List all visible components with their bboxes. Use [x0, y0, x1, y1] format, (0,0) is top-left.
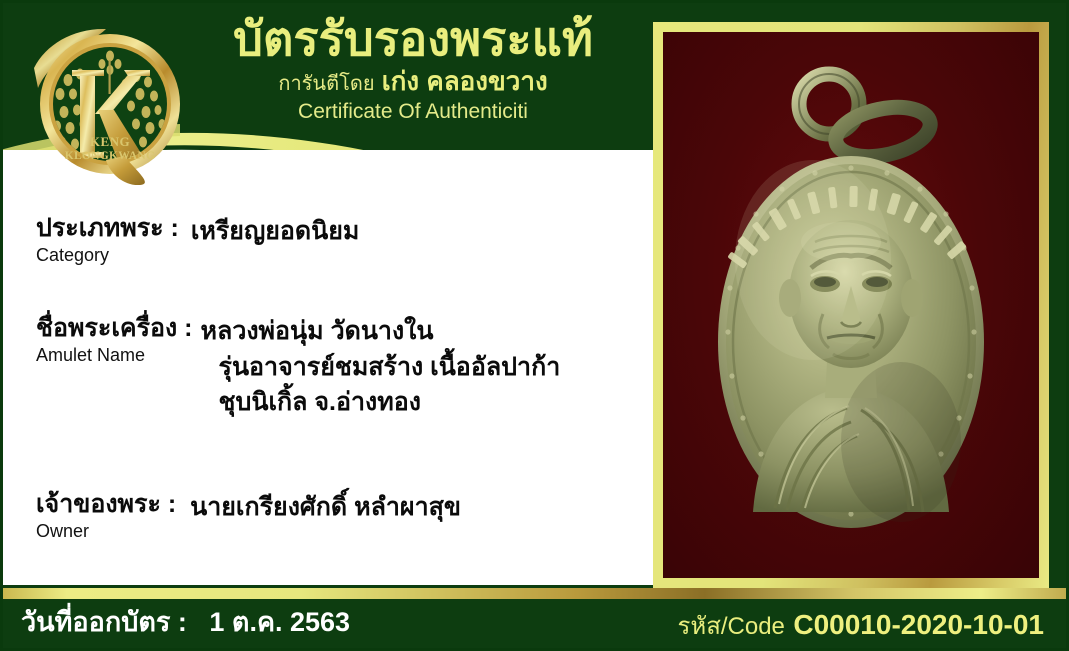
guarantee-prefix: การันตีโดย	[278, 73, 374, 95]
field-label-en: Amulet Name	[36, 345, 193, 366]
field-value-amulet-name: หลวงพ่อนุ่ม วัดนางใน รุ่นอาจารย์ชมสร้าง …	[201, 314, 561, 421]
amulet-hanger-rings	[799, 74, 935, 164]
field-label-category: ประเภทพระ : Category	[36, 214, 179, 265]
header-title-block: บัตรรับรองพระแท้ การันตีโดย เก่ง คลองขวา…	[178, 14, 648, 124]
issue-date-label: วันที่ออกบัตร :	[21, 607, 187, 637]
svg-text:KENG: KENG	[90, 134, 130, 149]
field-label-th: ชื่อพระเครื่อง :	[36, 314, 193, 344]
guarantee-by: เก่ง คลองขวาง	[382, 66, 548, 96]
field-label-en: Category	[36, 245, 179, 266]
keng-klongkwang-seal-icon: KENG KLONGKWANG	[28, 18, 193, 186]
field-value-category: เหรียญยอดนิยม	[191, 214, 360, 250]
field-value-owner: นายเกรียงศักดิ์ หลำผาสุข	[190, 490, 461, 526]
amulet-photo-panel	[653, 22, 1049, 588]
issue-date-value: 1 ต.ค. 2563	[209, 607, 350, 637]
field-row-category: ประเภทพระ : Category เหรียญยอดนิยม	[36, 214, 359, 265]
certificate-footer: วันที่ออกบัตร : 1 ต.ค. 2563 รหัส/Code C0…	[3, 599, 1066, 648]
issue-date: วันที่ออกบัตร : 1 ต.ค. 2563	[21, 605, 350, 640]
brand-logo: KENG KLONGKWANG	[28, 18, 193, 186]
photo-background	[663, 32, 1039, 578]
guarantee-line: การันตีโดย เก่ง คลองขวาง	[178, 66, 648, 97]
field-label-th: ประเภทพระ :	[36, 214, 179, 244]
field-label-en: Owner	[36, 521, 176, 542]
certificate-subtitle-en: Certificate Of Authenticiti	[178, 99, 648, 124]
photo-gold-frame	[653, 22, 1049, 588]
field-row-amulet-name: ชื่อพระเครื่อง : Amulet Name หลวงพ่อนุ่ม…	[36, 314, 560, 421]
certificate-card: บัตรรับรองพระแท้ การันตีโดย เก่ง คลองขวา…	[0, 0, 1069, 651]
svg-text:KLONGKWANG: KLONGKWANG	[65, 150, 156, 162]
footer-gold-strip	[3, 588, 1066, 599]
field-label-th: เจ้าของพระ :	[36, 490, 176, 520]
amulet-medal-image	[701, 42, 1001, 572]
field-list: ประเภทพระ : Category เหรียญยอดนิยม ชื่อพ…	[3, 200, 653, 585]
certificate-title-th: บัตรรับรองพระแท้	[178, 14, 648, 65]
code-label: รหัส/Code	[678, 613, 785, 640]
field-label-amulet-name: ชื่อพระเครื่อง : Amulet Name	[36, 314, 193, 365]
certificate-code: รหัส/Code C00010-2020-10-01	[678, 607, 1045, 643]
field-row-owner: เจ้าของพระ : Owner นายเกรียงศักดิ์ หลำผา…	[36, 490, 461, 541]
field-label-owner: เจ้าของพระ : Owner	[36, 490, 176, 541]
code-value: C00010-2020-10-01	[793, 609, 1044, 640]
